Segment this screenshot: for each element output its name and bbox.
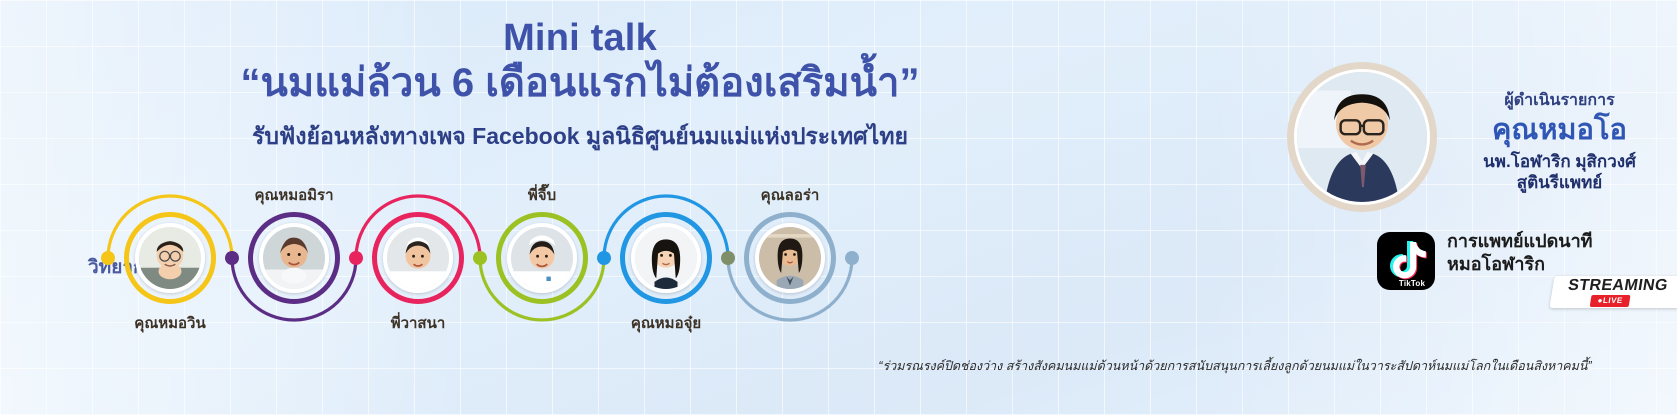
tiktok-channel-line2: หมอโอฬาริก [1447,253,1593,276]
speaker-name-6: คุณลอร่า [725,183,855,207]
connector-dot [101,251,115,265]
tiktok-wordmark: TikTok [1383,279,1435,288]
host-specialty: สูตินรีแพทย์ [1447,172,1672,193]
host-avatar[interactable] [1294,69,1430,205]
speaker-avatar-6[interactable] [755,223,825,293]
host-role: ผู้ดำเนินรายการ [1447,88,1672,113]
streaming-badge: STREAMING ●LIVE [1549,276,1677,308]
host-portrait [1297,72,1427,202]
speaker-avatar-4[interactable] [507,223,577,293]
speaker-name-2: คุณหมอมิรา [229,183,359,207]
speaker-avatar-2[interactable] [259,223,329,293]
speaker-avatar-1[interactable] [135,223,205,293]
portrait-3 [387,227,449,289]
footer-note: “ร่วมรณรงค์ปิดช่องว่าง สร้างสังคมนมแม่ด้… [840,356,1630,376]
title-quote: “นมแม่ล้วน 6 เดือนแรกไม่ต้องเสริมน้ำ” [0,61,1160,106]
title-main: Mini talk [0,18,1160,59]
connector-dot [845,251,859,265]
live-chip: ●LIVE [1590,295,1631,307]
host-fullname: นพ.โอฬาริก มุสิกวงศ์ [1447,151,1672,172]
title-subtitle: รับฟังย้อนหลังทางเพจ Facebook มูลนิธิศูน… [0,119,1160,155]
speaker-avatar-5[interactable] [631,223,701,293]
host-text-block: ผู้ดำเนินรายการ คุณหมอโอ นพ.โอฬาริก มุสิ… [1447,88,1672,193]
host-photo-frame [1287,62,1437,212]
tiktok-icon[interactable]: TikTok [1377,232,1435,290]
connector-dot [597,251,611,265]
connector-dot [225,251,239,265]
speaker-name-5: คุณหมอจุ๋ย [601,311,731,335]
host-nickname: คุณหมอโอ [1447,115,1672,147]
portrait-6 [759,227,821,289]
speaker-name-1: คุณหมอวิน [105,311,235,335]
connector-dot [349,251,363,265]
portrait-4 [511,227,573,289]
speaker-name-3: พี่วาสนา [353,311,483,335]
webinar-banner: Mini talk “นมแม่ล้วน 6 เดือนแรกไม่ต้องเส… [0,0,1677,415]
portrait-2 [263,227,325,289]
speakers-row: วิทยากร [0,186,1060,336]
tiktok-channel: การแพทย์แปดนาที หมอโอฬาริก [1447,230,1593,277]
portrait-5 [635,227,697,289]
title-block: Mini talk “นมแม่ล้วน 6 เดือนแรกไม่ต้องเส… [0,18,1160,155]
speaker-avatar-3[interactable] [383,223,453,293]
host-panel: ผู้ดำเนินรายการ คุณหมอโอ นพ.โอฬาริก มุสิ… [1157,0,1677,415]
tiktok-channel-line1: การแพทย์แปดนาที [1447,230,1593,253]
portrait-1 [139,227,201,289]
connector-dot [721,251,735,265]
speaker-name-4: พี่จี๊บ [477,183,607,207]
connector-dot [473,251,487,265]
tiktok-block: TikTok การแพทย์แปดนาที หมอโอฬาริก STREAM… [1162,228,1677,303]
streaming-label: STREAMING [1552,277,1677,295]
